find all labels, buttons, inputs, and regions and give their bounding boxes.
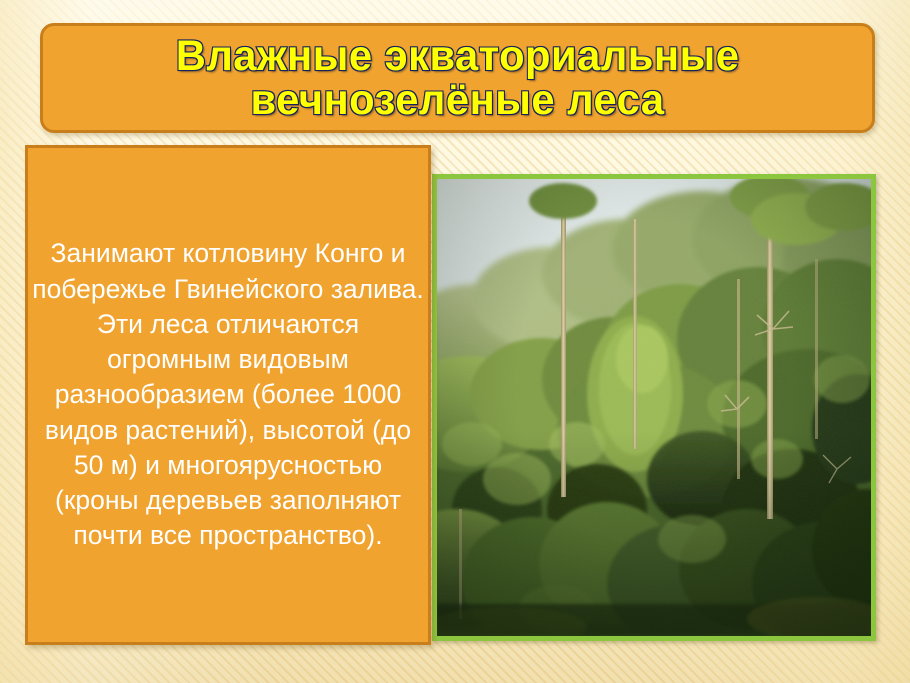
description-panel: Занимают котловину Конго и побережье Гви…: [25, 145, 431, 645]
photo-vignette: [437, 179, 871, 636]
slide-title: Влажные экваториальные вечнозелёные леса: [176, 34, 740, 123]
slide-canvas: Влажные экваториальные вечнозелёные леса…: [0, 0, 910, 683]
title-banner: Влажные экваториальные вечнозелёные леса: [40, 23, 875, 133]
description-text: Занимают котловину Конго и побережье Гви…: [32, 236, 424, 553]
rainforest-photo-frame: [432, 174, 876, 641]
rainforest-photo: [437, 179, 871, 636]
